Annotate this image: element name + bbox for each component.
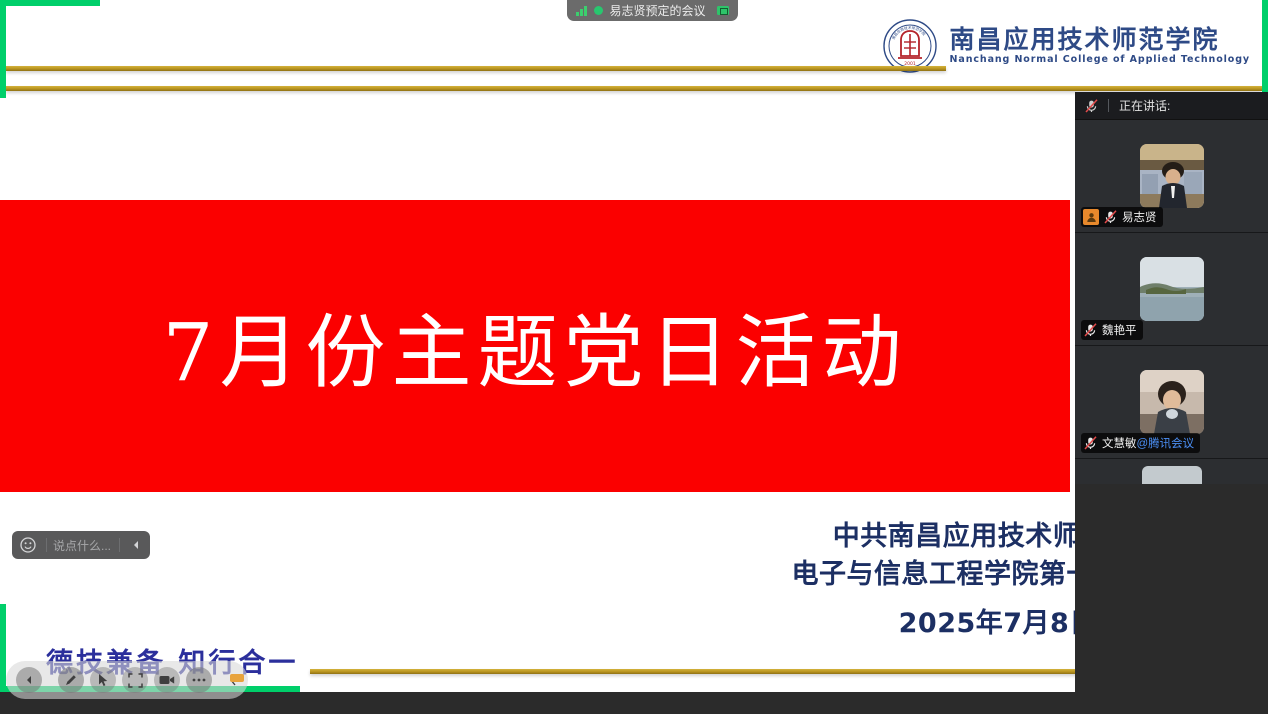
screenshot-frame-icon[interactable] [122,667,148,693]
participant-video [1140,370,1204,434]
chat-divider-right [119,538,120,552]
cursor-pointer-icon[interactable] [90,667,116,693]
chat-input[interactable]: 说点什么... [53,537,113,554]
mic-muted-icon [1084,323,1097,337]
annotation-color-swatch[interactable] [230,674,244,682]
participant-video [1140,257,1204,321]
header-divider [1108,99,1109,112]
participant-name: 易志贤 [1122,209,1157,225]
more-options-icon[interactable] [186,667,212,693]
university-name-en: Nanchang Normal College of Applied Techn… [950,54,1250,65]
participant-name-chip: 易志贤 [1081,207,1163,227]
screen-share-icon[interactable] [717,6,729,15]
participant-tile[interactable] [1075,459,1268,484]
annotation-toolbar[interactable] [6,661,248,699]
participants-panel[interactable]: 正在讲话: [1075,92,1268,484]
participant-name-chip: 文慧敏@腾讯会议 [1081,433,1200,453]
panel-backdrop [1075,484,1268,692]
slide-title: 7月份主题党日活动 [163,288,908,404]
participant-tile[interactable]: 魏艳平 [1075,233,1268,346]
collapse-arrow-left-icon[interactable] [16,667,42,693]
speaking-now-label: 正在讲话: [1119,97,1170,114]
participant-name: 文慧敏@腾讯会议 [1102,435,1194,451]
collapse-left-icon[interactable] [126,533,146,557]
university-name-cn: 南昌应用技术师范学院 [950,27,1250,53]
pen-icon[interactable] [58,667,84,693]
mic-muted-icon [1084,436,1097,450]
meeting-status-pill[interactable]: 易志贤预定的会议 [567,0,738,21]
chat-divider-left [46,538,47,552]
emoji-smiley-icon[interactable] [16,533,40,557]
university-logo-text: 南昌应用技术师范学院 Nanchang Normal College of Ap… [950,27,1250,65]
participant-name-chip: 魏艳平 [1081,320,1143,340]
host-badge-icon [1083,209,1099,225]
signal-bars-icon [576,6,587,16]
recording-dot-icon [594,6,603,15]
mic-muted-icon [1085,99,1098,113]
meeting-screen-share-window: 2001 南昌应用技术师范学院 南昌应用技术师范学院 Nanchang Norm… [0,0,1268,714]
video-record-icon[interactable] [154,667,180,693]
participant-name-suffix: @腾讯会议 [1137,438,1195,450]
meeting-title: 易志贤预定的会议 [610,2,706,19]
gold-rule-lower [6,86,1262,91]
participant-tile[interactable]: 文慧敏@腾讯会议 [1075,346,1268,459]
participant-video [1142,466,1202,484]
mic-muted-icon [1104,210,1117,224]
participant-video [1140,144,1204,208]
participants-panel-header: 正在讲话: [1075,92,1268,120]
gold-rule-upper [6,66,946,71]
participant-tile[interactable]: 易志贤 [1075,120,1268,233]
slide-title-band: 7月份主题党日活动 [0,200,1070,492]
participant-name: 魏艳平 [1102,322,1137,338]
chat-input-bar[interactable]: 说点什么... [12,531,150,559]
